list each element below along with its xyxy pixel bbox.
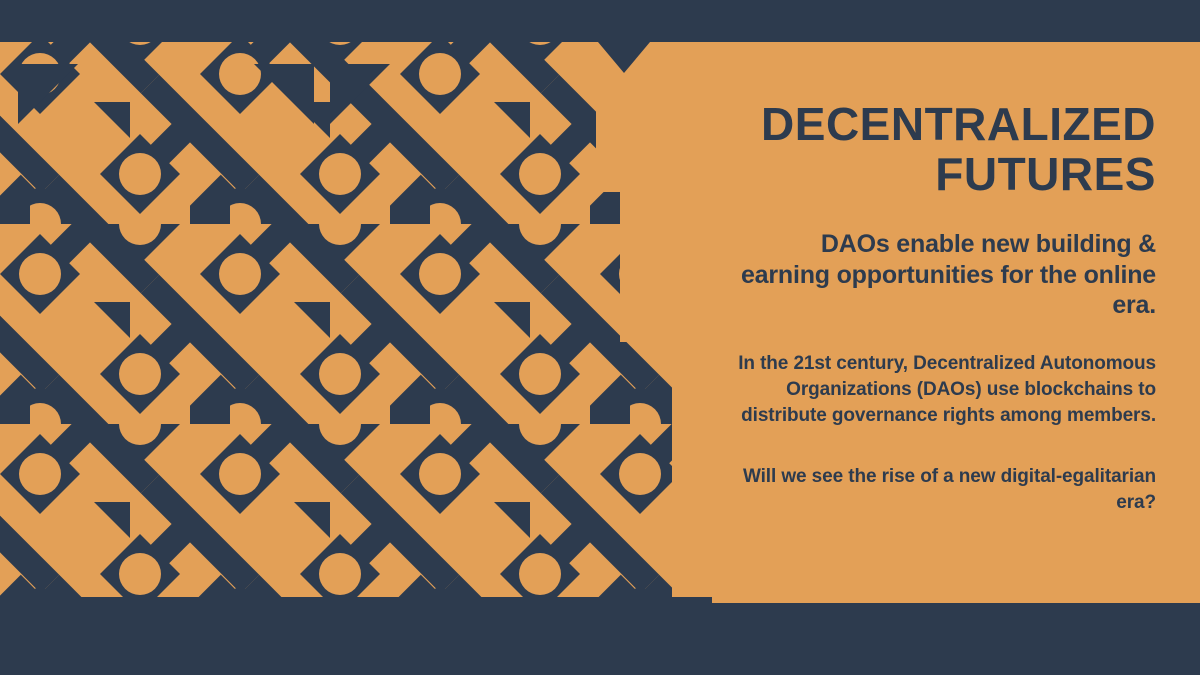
top-band-notch <box>598 42 650 73</box>
headline-line-2: FUTURES <box>935 148 1156 200</box>
subheadline: DAOs enable new building & earning oppor… <box>734 229 1156 321</box>
poster-canvas: DECENTRALIZED FUTURES DAOs enable new bu… <box>0 0 1200 675</box>
headline-line-1: DECENTRALIZED <box>761 98 1156 150</box>
body-paragraph-1: In the 21st century, Decentralized Auton… <box>734 351 1156 430</box>
footer-bar: LEARN HOW TO DAO AT : www.howtodao.xyz <box>0 603 1200 675</box>
top-frame-band <box>0 0 1200 42</box>
body-paragraph-2: Will we see the rise of a new digital-eg… <box>734 464 1156 516</box>
diamond-link-pattern-icon <box>0 42 712 603</box>
content-column: DECENTRALIZED FUTURES DAOs enable new bu… <box>712 42 1200 603</box>
page-title: DECENTRALIZED FUTURES <box>734 100 1156 199</box>
decorative-pattern-panel <box>0 42 712 603</box>
